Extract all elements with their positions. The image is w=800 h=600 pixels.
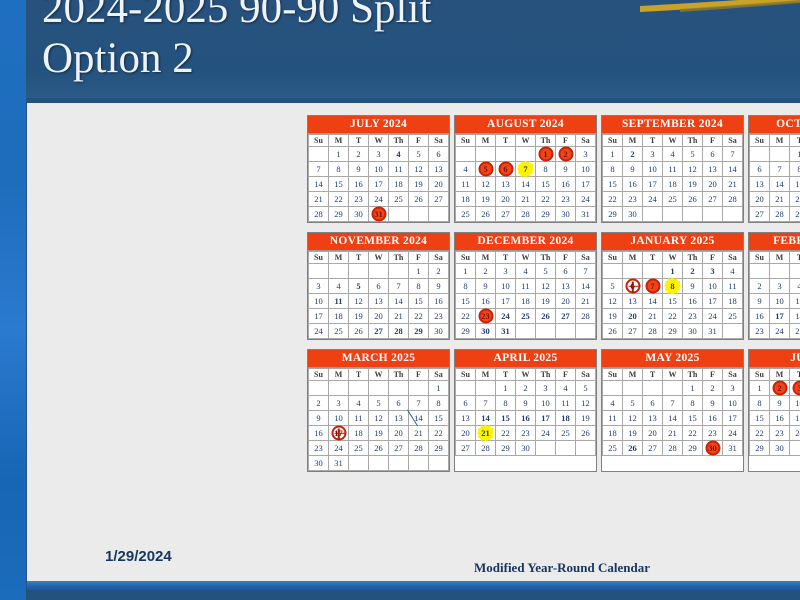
day-cell-march-2025-11[interactable]: 11 [349,411,369,426]
day-cell-april-2025-19[interactable]: 19 [576,411,596,426]
day-cell-october-2024-1[interactable]: 1 [790,147,800,162]
day-cell-february-2025-4[interactable]: 4 [790,279,800,294]
day-cell-may-2025-15[interactable]: 15 [683,411,703,426]
day-cell-september-2024-23[interactable]: 23 [623,192,643,207]
day-cell-november-2024-25[interactable]: 25 [329,324,349,339]
day-cell-december-2024-11[interactable]: 11 [516,279,536,294]
day-cell-november-2024-8[interactable]: 8 [409,279,429,294]
day-cell-february-2025-9[interactable]: 9 [750,294,770,309]
day-cell-april-2025-2[interactable]: 2 [516,381,536,396]
day-cell-november-2024-20[interactable]: 20 [369,309,389,324]
day-cell-september-2024-17[interactable]: 17 [643,177,663,192]
day-cell-july-2024-4[interactable]: 4 [389,147,409,162]
day-cell-may-2025-14[interactable]: 14 [663,411,683,426]
day-cell-november-2024-21[interactable]: 21 [389,309,409,324]
day-cell-december-2024-8[interactable]: 8 [456,279,476,294]
day-cell-november-2024-27[interactable]: 27 [369,324,389,339]
day-cell-december-2024-28[interactable]: 28 [576,309,596,324]
day-cell-november-2024-16[interactable]: 16 [429,294,449,309]
day-cell-august-2024-8[interactable]: 8 [536,162,556,177]
day-cell-september-2024-15[interactable]: 15 [603,177,623,192]
day-cell-april-2025-27[interactable]: 27 [456,441,476,456]
day-cell-november-2024-17[interactable]: 17 [309,309,329,324]
day-cell-january-2025-10[interactable]: 10 [703,279,723,294]
day-cell-july-2024-13[interactable]: 13 [429,162,449,177]
day-cell-july-2024-24[interactable]: 24 [369,192,389,207]
day-cell-may-2025-28[interactable]: 28 [663,441,683,456]
day-cell-may-2025-2[interactable]: 2 [703,381,723,396]
day-cell-april-2025-23[interactable]: 23 [516,426,536,441]
day-cell-january-2025-19[interactable]: 19 [603,309,623,324]
day-cell-october-2024-7[interactable]: 7 [770,162,790,177]
day-cell-september-2024-12[interactable]: 12 [683,162,703,177]
day-cell-april-2025-26[interactable]: 26 [576,426,596,441]
day-cell-may-2025-25[interactable]: 25 [603,441,623,456]
day-cell-november-2024-7[interactable]: 7 [389,279,409,294]
day-cell-april-2025-3[interactable]: 3 [536,381,556,396]
day-cell-january-2025-20[interactable]: 20 [623,309,643,324]
day-cell-march-2025-6[interactable]: 6 [389,396,409,411]
day-cell-november-2024-12[interactable]: 12 [349,294,369,309]
day-cell-august-2024-7[interactable]: 7 [516,162,536,177]
day-cell-june-2025-24[interactable]: 24 [790,426,800,441]
day-cell-december-2024-5[interactable]: 5 [536,264,556,279]
day-cell-june-2025-2[interactable]: 2 [770,381,790,396]
day-cell-april-2025-11[interactable]: 11 [556,396,576,411]
day-cell-november-2024-30[interactable]: 30 [429,324,449,339]
day-cell-march-2025-21[interactable]: 21 [409,426,429,441]
day-cell-may-2025-12[interactable]: 12 [623,411,643,426]
day-cell-may-2025-13[interactable]: 13 [643,411,663,426]
day-cell-january-2025-1[interactable]: 1 [663,264,683,279]
day-cell-december-2024-14[interactable]: 14 [576,279,596,294]
day-cell-may-2025-3[interactable]: 3 [723,381,743,396]
day-cell-february-2025-3[interactable]: 3 [770,279,790,294]
day-cell-december-2024-9[interactable]: 9 [476,279,496,294]
day-cell-april-2025-9[interactable]: 9 [516,396,536,411]
day-cell-july-2024-26[interactable]: 26 [409,192,429,207]
day-cell-november-2024-14[interactable]: 14 [389,294,409,309]
day-cell-october-2024-8[interactable]: 8 [790,162,800,177]
day-cell-december-2024-31[interactable]: 31 [496,324,516,339]
day-cell-november-2024-10[interactable]: 10 [309,294,329,309]
day-cell-september-2024-3[interactable]: 3 [643,147,663,162]
day-cell-july-2024-25[interactable]: 25 [389,192,409,207]
day-cell-may-2025-6[interactable]: 6 [643,396,663,411]
day-cell-march-2025-23[interactable]: 23 [309,441,329,456]
day-cell-february-2025-2[interactable]: 2 [750,279,770,294]
day-cell-july-2024-5[interactable]: 5 [409,147,429,162]
day-cell-september-2024-5[interactable]: 5 [683,147,703,162]
day-cell-may-2025-1[interactable]: 1 [683,381,703,396]
day-cell-march-2025-4[interactable]: 4 [349,396,369,411]
day-cell-september-2024-1[interactable]: 1 [603,147,623,162]
day-cell-april-2025-6[interactable]: 6 [456,396,476,411]
day-cell-march-2025-22[interactable]: 22 [429,426,449,441]
day-cell-january-2025-13[interactable]: 13 [623,294,643,309]
day-cell-july-2024-11[interactable]: 11 [389,162,409,177]
day-cell-july-2024-17[interactable]: 17 [369,177,389,192]
day-cell-august-2024-17[interactable]: 17 [576,177,596,192]
day-cell-february-2025-18[interactable]: 18 [790,309,800,324]
day-cell-december-2024-30[interactable]: 30 [476,324,496,339]
day-cell-september-2024-30[interactable]: 30 [623,207,643,222]
day-cell-october-2024-29[interactable]: 29 [790,207,800,222]
day-cell-august-2024-26[interactable]: 26 [476,207,496,222]
day-cell-august-2024-4[interactable]: 4 [456,162,476,177]
day-cell-july-2024-22[interactable]: 22 [329,192,349,207]
day-cell-september-2024-8[interactable]: 8 [603,162,623,177]
day-cell-april-2025-25[interactable]: 25 [556,426,576,441]
day-cell-july-2024-6[interactable]: 6 [429,147,449,162]
day-cell-march-2025-18[interactable]: 18 [349,426,369,441]
day-cell-january-2025-6[interactable]: 6 [623,279,643,294]
day-cell-january-2025-9[interactable]: 9 [683,279,703,294]
day-cell-january-2025-15[interactable]: 15 [663,294,683,309]
day-cell-april-2025-1[interactable]: 1 [496,381,516,396]
day-cell-november-2024-26[interactable]: 26 [349,324,369,339]
day-cell-august-2024-18[interactable]: 18 [456,192,476,207]
day-cell-march-2025-12[interactable]: 12 [369,411,389,426]
day-cell-december-2024-4[interactable]: 4 [516,264,536,279]
day-cell-june-2025-23[interactable]: 23 [770,426,790,441]
day-cell-june-2025-15[interactable]: 15 [750,411,770,426]
day-cell-may-2025-23[interactable]: 23 [703,426,723,441]
day-cell-january-2025-29[interactable]: 29 [663,324,683,339]
day-cell-april-2025-21[interactable]: 21 [476,426,496,441]
day-cell-november-2024-29[interactable]: 29 [409,324,429,339]
day-cell-august-2024-25[interactable]: 25 [456,207,476,222]
day-cell-march-2025-16[interactable]: 16 [309,426,329,441]
day-cell-august-2024-13[interactable]: 13 [496,177,516,192]
day-cell-june-2025-3[interactable]: 3 [790,381,800,396]
day-cell-august-2024-12[interactable]: 12 [476,177,496,192]
day-cell-april-2025-16[interactable]: 16 [516,411,536,426]
day-cell-august-2024-9[interactable]: 9 [556,162,576,177]
day-cell-august-2024-14[interactable]: 14 [516,177,536,192]
day-cell-may-2025-19[interactable]: 19 [623,426,643,441]
day-cell-january-2025-26[interactable]: 26 [603,324,623,339]
day-cell-may-2025-17[interactable]: 17 [723,411,743,426]
day-cell-july-2024-15[interactable]: 15 [329,177,349,192]
day-cell-october-2024-15[interactable]: 15 [790,177,800,192]
day-cell-december-2024-7[interactable]: 7 [576,264,596,279]
day-cell-may-2025-8[interactable]: 8 [683,396,703,411]
day-cell-april-2025-15[interactable]: 15 [496,411,516,426]
day-cell-august-2024-6[interactable]: 6 [496,162,516,177]
day-cell-april-2025-13[interactable]: 13 [456,411,476,426]
day-cell-july-2024-10[interactable]: 10 [369,162,389,177]
day-cell-july-2024-28[interactable]: 28 [309,207,329,222]
day-cell-november-2024-13[interactable]: 13 [369,294,389,309]
day-cell-february-2025-10[interactable]: 10 [770,294,790,309]
day-cell-january-2025-17[interactable]: 17 [703,294,723,309]
day-cell-march-2025-14[interactable]: 14 [409,411,429,426]
day-cell-march-2025-10[interactable]: 10 [329,411,349,426]
day-cell-august-2024-29[interactable]: 29 [536,207,556,222]
day-cell-may-2025-11[interactable]: 11 [603,411,623,426]
day-cell-march-2025-24[interactable]: 24 [329,441,349,456]
day-cell-march-2025-9[interactable]: 9 [309,411,329,426]
day-cell-august-2024-19[interactable]: 19 [476,192,496,207]
day-cell-august-2024-10[interactable]: 10 [576,162,596,177]
day-cell-september-2024-26[interactable]: 26 [683,192,703,207]
day-cell-july-2024-14[interactable]: 14 [309,177,329,192]
day-cell-september-2024-2[interactable]: 2 [623,147,643,162]
day-cell-december-2024-19[interactable]: 19 [536,294,556,309]
day-cell-september-2024-4[interactable]: 4 [663,147,683,162]
day-cell-november-2024-5[interactable]: 5 [349,279,369,294]
day-cell-july-2024-7[interactable]: 7 [309,162,329,177]
day-cell-september-2024-19[interactable]: 19 [683,177,703,192]
day-cell-january-2025-28[interactable]: 28 [643,324,663,339]
day-cell-december-2024-22[interactable]: 22 [456,309,476,324]
day-cell-march-2025-30[interactable]: 30 [309,456,329,471]
day-cell-may-2025-9[interactable]: 9 [703,396,723,411]
day-cell-july-2024-21[interactable]: 21 [309,192,329,207]
day-cell-august-2024-31[interactable]: 31 [576,207,596,222]
day-cell-august-2024-1[interactable]: 1 [536,147,556,162]
day-cell-june-2025-8[interactable]: 8 [750,396,770,411]
day-cell-july-2024-18[interactable]: 18 [389,177,409,192]
day-cell-july-2024-19[interactable]: 19 [409,177,429,192]
day-cell-february-2025-23[interactable]: 23 [750,324,770,339]
day-cell-january-2025-18[interactable]: 18 [723,294,743,309]
day-cell-march-2025-15[interactable]: 15 [429,411,449,426]
day-cell-july-2024-8[interactable]: 8 [329,162,349,177]
day-cell-january-2025-31[interactable]: 31 [703,324,723,339]
day-cell-december-2024-24[interactable]: 24 [496,309,516,324]
day-cell-july-2024-1[interactable]: 1 [329,147,349,162]
day-cell-september-2024-13[interactable]: 13 [703,162,723,177]
day-cell-january-2025-11[interactable]: 11 [723,279,743,294]
day-cell-april-2025-10[interactable]: 10 [536,396,556,411]
day-cell-september-2024-21[interactable]: 21 [723,177,743,192]
day-cell-june-2025-29[interactable]: 29 [750,441,770,456]
day-cell-february-2025-24[interactable]: 24 [770,324,790,339]
day-cell-june-2025-16[interactable]: 16 [770,411,790,426]
day-cell-october-2024-13[interactable]: 13 [750,177,770,192]
day-cell-january-2025-21[interactable]: 21 [643,309,663,324]
day-cell-june-2025-10[interactable]: 10 [790,396,800,411]
day-cell-august-2024-2[interactable]: 2 [556,147,576,162]
day-cell-july-2024-12[interactable]: 12 [409,162,429,177]
day-cell-august-2024-3[interactable]: 3 [576,147,596,162]
day-cell-january-2025-30[interactable]: 30 [683,324,703,339]
day-cell-january-2025-4[interactable]: 4 [723,264,743,279]
day-cell-december-2024-18[interactable]: 18 [516,294,536,309]
day-cell-february-2025-17[interactable]: 17 [770,309,790,324]
day-cell-december-2024-26[interactable]: 26 [536,309,556,324]
day-cell-november-2024-11[interactable]: 11 [329,294,349,309]
day-cell-august-2024-11[interactable]: 11 [456,177,476,192]
day-cell-june-2025-17[interactable]: 17 [790,411,800,426]
day-cell-december-2024-23[interactable]: 23 [476,309,496,324]
day-cell-april-2025-30[interactable]: 30 [516,441,536,456]
day-cell-august-2024-21[interactable]: 21 [516,192,536,207]
day-cell-october-2024-6[interactable]: 6 [750,162,770,177]
day-cell-september-2024-18[interactable]: 18 [663,177,683,192]
day-cell-april-2025-14[interactable]: 14 [476,411,496,426]
day-cell-september-2024-7[interactable]: 7 [723,147,743,162]
day-cell-september-2024-22[interactable]: 22 [603,192,623,207]
day-cell-october-2024-20[interactable]: 20 [750,192,770,207]
day-cell-july-2024-16[interactable]: 16 [349,177,369,192]
day-cell-june-2025-22[interactable]: 22 [750,426,770,441]
day-cell-november-2024-18[interactable]: 18 [329,309,349,324]
day-cell-december-2024-10[interactable]: 10 [496,279,516,294]
day-cell-march-2025-19[interactable]: 19 [369,426,389,441]
day-cell-january-2025-16[interactable]: 16 [683,294,703,309]
day-cell-march-2025-29[interactable]: 29 [429,441,449,456]
day-cell-november-2024-19[interactable]: 19 [349,309,369,324]
day-cell-july-2024-31[interactable]: 31 [369,207,389,222]
day-cell-december-2024-13[interactable]: 13 [556,279,576,294]
day-cell-september-2024-28[interactable]: 28 [723,192,743,207]
day-cell-november-2024-3[interactable]: 3 [309,279,329,294]
day-cell-april-2025-29[interactable]: 29 [496,441,516,456]
day-cell-april-2025-18[interactable]: 18 [556,411,576,426]
day-cell-january-2025-24[interactable]: 24 [703,309,723,324]
day-cell-march-2025-2[interactable]: 2 [309,396,329,411]
day-cell-march-2025-1[interactable]: 1 [429,381,449,396]
day-cell-september-2024-9[interactable]: 9 [623,162,643,177]
day-cell-january-2025-2[interactable]: 2 [683,264,703,279]
day-cell-march-2025-26[interactable]: 26 [369,441,389,456]
day-cell-august-2024-27[interactable]: 27 [496,207,516,222]
day-cell-may-2025-21[interactable]: 21 [663,426,683,441]
day-cell-august-2024-16[interactable]: 16 [556,177,576,192]
day-cell-december-2024-3[interactable]: 3 [496,264,516,279]
day-cell-september-2024-6[interactable]: 6 [703,147,723,162]
day-cell-november-2024-23[interactable]: 23 [429,309,449,324]
day-cell-may-2025-16[interactable]: 16 [703,411,723,426]
day-cell-july-2024-30[interactable]: 30 [349,207,369,222]
day-cell-april-2025-12[interactable]: 12 [576,396,596,411]
day-cell-april-2025-7[interactable]: 7 [476,396,496,411]
day-cell-march-2025-5[interactable]: 5 [369,396,389,411]
day-cell-march-2025-3[interactable]: 3 [329,396,349,411]
day-cell-october-2024-22[interactable]: 22 [790,192,800,207]
day-cell-january-2025-23[interactable]: 23 [683,309,703,324]
day-cell-september-2024-25[interactable]: 25 [663,192,683,207]
day-cell-april-2025-24[interactable]: 24 [536,426,556,441]
day-cell-january-2025-12[interactable]: 12 [603,294,623,309]
day-cell-january-2025-3[interactable]: 3 [703,264,723,279]
day-cell-november-2024-2[interactable]: 2 [429,264,449,279]
day-cell-november-2024-4[interactable]: 4 [329,279,349,294]
day-cell-november-2024-9[interactable]: 9 [429,279,449,294]
day-cell-may-2025-27[interactable]: 27 [643,441,663,456]
day-cell-september-2024-29[interactable]: 29 [603,207,623,222]
day-cell-december-2024-21[interactable]: 21 [576,294,596,309]
day-cell-february-2025-16[interactable]: 16 [750,309,770,324]
day-cell-august-2024-24[interactable]: 24 [576,192,596,207]
day-cell-december-2024-12[interactable]: 12 [536,279,556,294]
day-cell-february-2025-25[interactable]: 25 [790,324,800,339]
day-cell-november-2024-15[interactable]: 15 [409,294,429,309]
day-cell-august-2024-28[interactable]: 28 [516,207,536,222]
day-cell-may-2025-4[interactable]: 4 [603,396,623,411]
day-cell-june-2025-30[interactable]: 30 [770,441,790,456]
day-cell-january-2025-8[interactable]: 8 [663,279,683,294]
day-cell-august-2024-20[interactable]: 20 [496,192,516,207]
day-cell-august-2024-15[interactable]: 15 [536,177,556,192]
day-cell-may-2025-30[interactable]: 30 [703,441,723,456]
day-cell-april-2025-17[interactable]: 17 [536,411,556,426]
day-cell-january-2025-25[interactable]: 25 [723,309,743,324]
day-cell-september-2024-14[interactable]: 14 [723,162,743,177]
day-cell-march-2025-17[interactable]: 17 [329,426,349,441]
day-cell-may-2025-10[interactable]: 10 [723,396,743,411]
day-cell-march-2025-20[interactable]: 20 [389,426,409,441]
day-cell-april-2025-8[interactable]: 8 [496,396,516,411]
day-cell-march-2025-27[interactable]: 27 [389,441,409,456]
day-cell-october-2024-27[interactable]: 27 [750,207,770,222]
day-cell-may-2025-18[interactable]: 18 [603,426,623,441]
day-cell-may-2025-20[interactable]: 20 [643,426,663,441]
day-cell-december-2024-20[interactable]: 20 [556,294,576,309]
day-cell-september-2024-20[interactable]: 20 [703,177,723,192]
day-cell-march-2025-7[interactable]: 7 [409,396,429,411]
day-cell-june-2025-1[interactable]: 1 [750,381,770,396]
day-cell-january-2025-14[interactable]: 14 [643,294,663,309]
day-cell-january-2025-7[interactable]: 7 [643,279,663,294]
day-cell-october-2024-28[interactable]: 28 [770,207,790,222]
day-cell-november-2024-1[interactable]: 1 [409,264,429,279]
day-cell-november-2024-28[interactable]: 28 [389,324,409,339]
day-cell-december-2024-6[interactable]: 6 [556,264,576,279]
day-cell-november-2024-22[interactable]: 22 [409,309,429,324]
day-cell-april-2025-20[interactable]: 20 [456,426,476,441]
day-cell-december-2024-1[interactable]: 1 [456,264,476,279]
day-cell-may-2025-22[interactable]: 22 [683,426,703,441]
day-cell-april-2025-28[interactable]: 28 [476,441,496,456]
day-cell-august-2024-23[interactable]: 23 [556,192,576,207]
day-cell-august-2024-5[interactable]: 5 [476,162,496,177]
day-cell-may-2025-24[interactable]: 24 [723,426,743,441]
day-cell-march-2025-13[interactable]: 13 [389,411,409,426]
day-cell-september-2024-24[interactable]: 24 [643,192,663,207]
day-cell-april-2025-5[interactable]: 5 [576,381,596,396]
day-cell-january-2025-22[interactable]: 22 [663,309,683,324]
day-cell-may-2025-29[interactable]: 29 [683,441,703,456]
day-cell-february-2025-11[interactable]: 11 [790,294,800,309]
day-cell-july-2024-3[interactable]: 3 [369,147,389,162]
day-cell-march-2025-25[interactable]: 25 [349,441,369,456]
day-cell-december-2024-16[interactable]: 16 [476,294,496,309]
day-cell-may-2025-5[interactable]: 5 [623,396,643,411]
day-cell-may-2025-31[interactable]: 31 [723,441,743,456]
day-cell-september-2024-27[interactable]: 27 [703,192,723,207]
day-cell-may-2025-7[interactable]: 7 [663,396,683,411]
day-cell-july-2024-27[interactable]: 27 [429,192,449,207]
day-cell-december-2024-15[interactable]: 15 [456,294,476,309]
day-cell-december-2024-25[interactable]: 25 [516,309,536,324]
day-cell-march-2025-8[interactable]: 8 [429,396,449,411]
day-cell-october-2024-21[interactable]: 21 [770,192,790,207]
day-cell-july-2024-23[interactable]: 23 [349,192,369,207]
day-cell-june-2025-9[interactable]: 9 [770,396,790,411]
day-cell-august-2024-30[interactable]: 30 [556,207,576,222]
day-cell-july-2024-29[interactable]: 29 [329,207,349,222]
day-cell-march-2025-31[interactable]: 31 [329,456,349,471]
day-cell-may-2025-26[interactable]: 26 [623,441,643,456]
day-cell-january-2025-5[interactable]: 5 [603,279,623,294]
day-cell-april-2025-4[interactable]: 4 [556,381,576,396]
day-cell-december-2024-2[interactable]: 2 [476,264,496,279]
day-cell-april-2025-22[interactable]: 22 [496,426,516,441]
